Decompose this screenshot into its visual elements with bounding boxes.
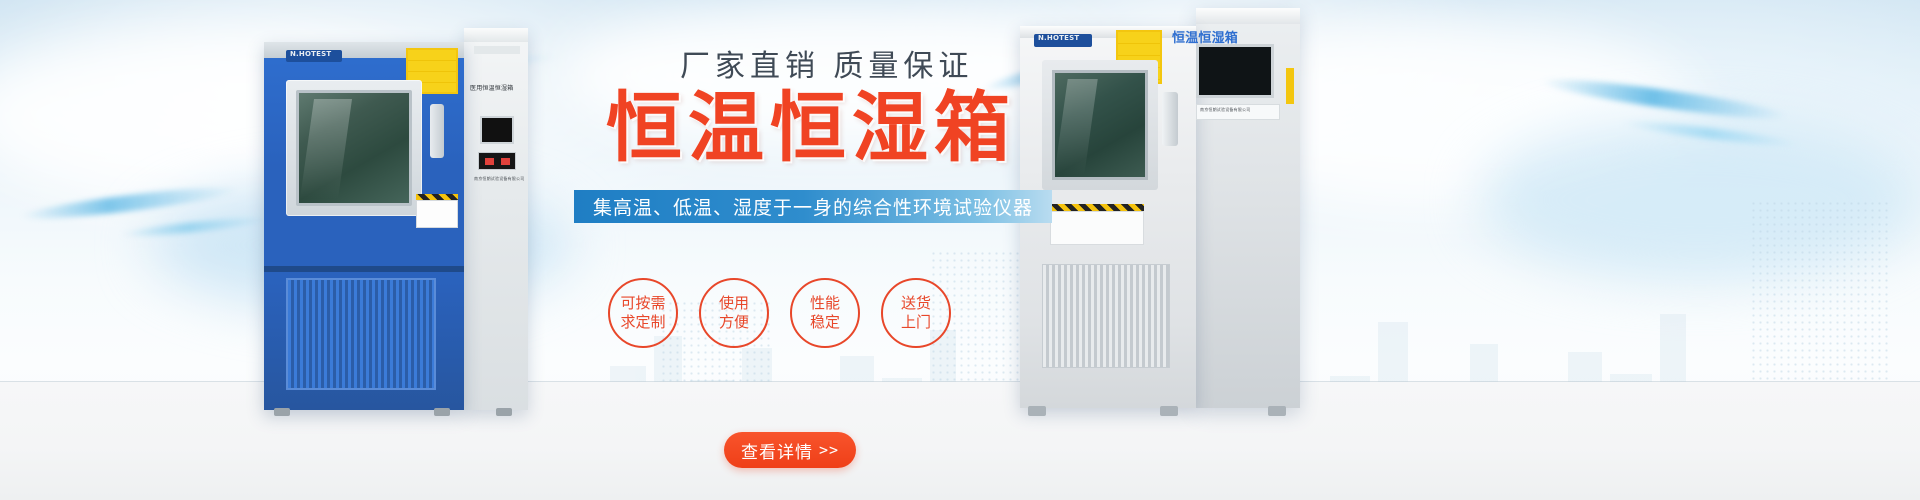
door-handle	[430, 104, 444, 158]
feature-badge-custom[interactable]: 可按需 求定制	[608, 278, 678, 348]
badge-line-1: 送货	[901, 294, 931, 313]
badge-line-2: 稳定	[810, 313, 840, 332]
badge-line-1: 使用	[719, 294, 749, 313]
feature-badge-easy-use[interactable]: 使用 方便	[699, 278, 769, 348]
feature-badge-stable[interactable]: 性能 稳定	[790, 278, 860, 348]
badge-line-2: 上门	[901, 313, 931, 332]
product-door-label: 医用恒温恒湿箱	[470, 86, 513, 91]
product-title-label: 恒温恒湿箱	[1172, 36, 1238, 41]
hazard-stripe	[1286, 68, 1294, 104]
badge-line-1: 可按需	[620, 294, 665, 313]
banner-subtitle-text: 集高温、低温、湿度于一身的综合性环境试验仪器	[593, 193, 1033, 220]
door-handle	[1162, 92, 1178, 146]
brand-logo-left: N.HOTEST	[290, 52, 331, 57]
promo-banner: 医用恒温恒湿箱 南京恒朗试验设备有限公司 N.HOTEST 南京恒朗试验设备有限…	[0, 0, 1920, 500]
badge-line-1: 性能	[810, 294, 840, 313]
controller-display	[1196, 44, 1274, 98]
info-sticker	[416, 200, 458, 228]
banner-subtitle-bar: 集高温、低温、湿度于一身的综合性环境试验仪器	[574, 190, 1052, 223]
cta-label: 查看详情	[741, 438, 813, 463]
chamber-viewport-window	[296, 90, 412, 206]
ventilation-grille	[286, 278, 436, 390]
controller-display	[480, 116, 514, 144]
view-details-button[interactable]: 查看详情 >>	[724, 432, 856, 468]
product-image-left-chamber: 医用恒温恒湿箱 南京恒朗试验设备有限公司 N.HOTEST	[264, 28, 528, 410]
banner-tagline: 厂家直销 质量保证	[680, 52, 973, 82]
indicator-panel	[478, 152, 516, 170]
banner-copy-block: 厂家直销 质量保证 恒温恒湿箱 集高温、低温、湿度于一身的综合性环境试验仪器 可…	[560, 0, 1080, 500]
manufacturer-footnote: 南京恒朗试验设备有限公司	[474, 176, 524, 181]
badge-line-2: 方便	[719, 313, 749, 332]
dot-pattern	[1750, 200, 1890, 380]
badge-line-2: 求定制	[620, 313, 665, 332]
chevron-right-double-icon: >>	[819, 441, 839, 459]
feature-badge-delivery[interactable]: 送货 上门	[881, 278, 951, 348]
banner-headline: 恒温恒湿箱	[606, 90, 1016, 166]
feature-badge-list: 可按需 求定制 使用 方便 性能 稳定 送货 上门	[608, 278, 951, 348]
manufacturer-footnote: 南京恒朗试验设备有限公司	[1200, 107, 1250, 112]
